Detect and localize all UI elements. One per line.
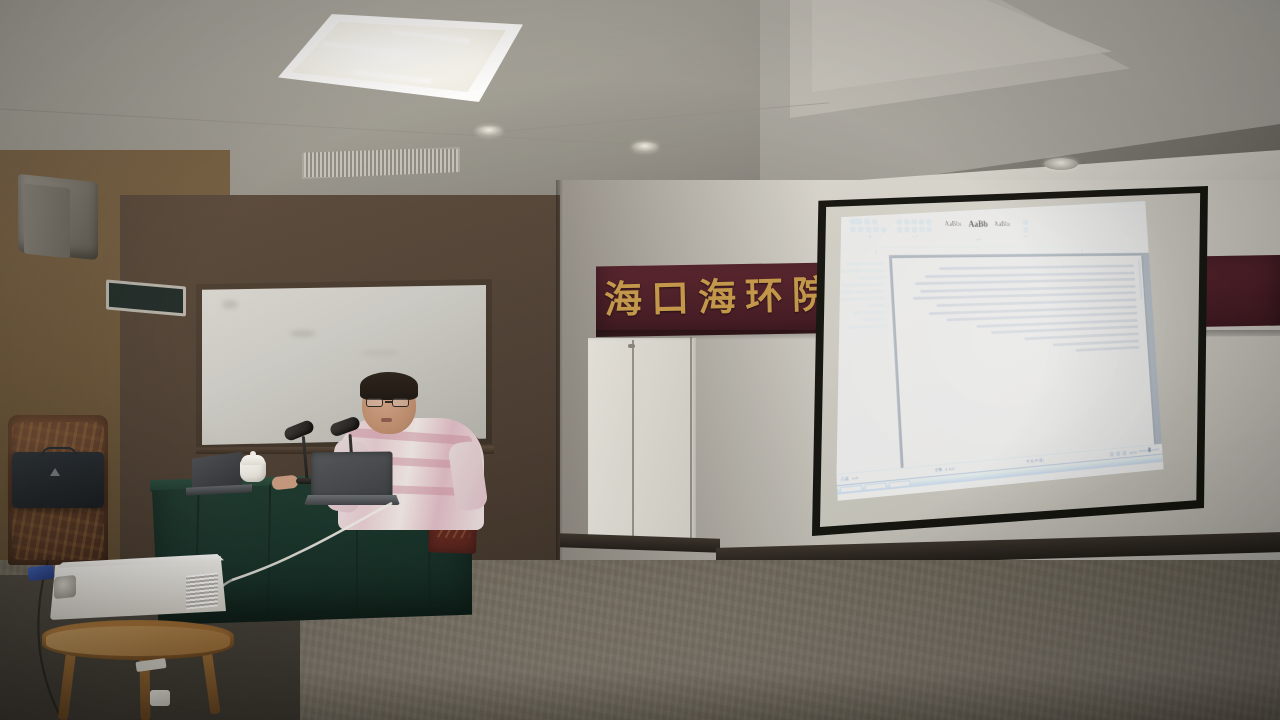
align-center-icon[interactable]	[904, 226, 910, 232]
nav-heading[interactable]	[845, 324, 888, 328]
style-name: 正文	[951, 227, 957, 231]
style-name: 标题 1	[975, 227, 983, 231]
ribbon-group-styles[interactable]: AaBbc 正文 AaBb 标题 1 AaBbc 标题 2 样式	[938, 211, 1018, 246]
glasses-icon	[366, 398, 383, 407]
nav-heading[interactable]	[856, 276, 885, 279]
text-highlight-icon[interactable]	[881, 226, 887, 232]
nav-heading[interactable]	[838, 297, 887, 301]
grow-font-icon[interactable]	[872, 218, 878, 224]
ribbon-group-label: 段落	[897, 234, 932, 238]
presenter-laptop-base[interactable]	[304, 495, 400, 505]
nav-heading[interactable]	[846, 262, 885, 265]
bag-handle[interactable]	[42, 447, 76, 457]
document-text-line	[1052, 339, 1139, 346]
find-icon[interactable]	[1023, 219, 1028, 225]
ribbon-group-label: 字体	[850, 234, 887, 238]
nav-heading[interactable]	[866, 304, 887, 307]
document-text-line	[924, 271, 1135, 278]
style-heading-1[interactable]: AaBb 标题 1	[966, 215, 990, 236]
laptop-bag[interactable]	[12, 452, 104, 508]
taskbar-item[interactable]	[840, 485, 862, 493]
zoom-slider-handle[interactable]	[1148, 448, 1150, 453]
line-spacing-icon[interactable]	[926, 226, 932, 232]
status-language: 中文(中国)	[1026, 457, 1044, 464]
style-sample: AaBbc	[994, 220, 1011, 228]
ruler-margin	[875, 248, 1082, 253]
align-left-icon[interactable]	[897, 226, 903, 232]
cup-on-floor	[150, 690, 170, 706]
strikethrough-icon[interactable]	[873, 226, 879, 232]
presenter-hair	[360, 372, 418, 400]
speaker-grille	[24, 184, 70, 259]
font-name-box[interactable]	[849, 218, 862, 224]
projector-lens	[54, 575, 76, 599]
style-sample: AaBb	[968, 220, 988, 228]
document-page[interactable]	[892, 255, 1154, 467]
nav-heading[interactable]	[861, 317, 888, 320]
web-layout-view-icon[interactable]	[1116, 451, 1120, 456]
outline-view-icon[interactable]	[1122, 450, 1126, 455]
italic-icon[interactable]	[858, 226, 864, 232]
document-text-line	[915, 278, 1136, 285]
downlight-icon	[632, 142, 658, 152]
glasses-bridge	[385, 401, 392, 403]
underline-icon[interactable]	[865, 226, 871, 232]
whiteboard-smudge	[360, 350, 400, 356]
presenter-laptop-screen[interactable]	[311, 452, 392, 499]
bullets-icon[interactable]	[896, 218, 902, 224]
nav-heading[interactable]	[853, 311, 888, 315]
decrease-indent-icon[interactable]	[919, 218, 925, 224]
justify-icon[interactable]	[919, 226, 925, 232]
word-work-area	[836, 253, 1162, 474]
nav-heading[interactable]	[841, 283, 886, 286]
navigation-pane[interactable]	[836, 255, 901, 474]
ribbon-group-paragraph[interactable]: 段落	[893, 211, 937, 246]
zoom-level[interactable]: 110%	[1129, 449, 1137, 454]
ribbon-group-editing[interactable]: 编辑	[1020, 212, 1032, 245]
replace-icon[interactable]	[1023, 226, 1028, 232]
downlight-icon	[1044, 158, 1078, 170]
document-text-line	[939, 264, 1135, 270]
door-seam	[690, 337, 692, 540]
font-size-box[interactable]	[864, 218, 870, 224]
downlight-icon	[476, 126, 502, 136]
projected-image: 文件 开始 插入 页面布局 引用 邮件 审阅 视图 剪贴板	[836, 199, 1188, 501]
presenter-mouth	[381, 418, 392, 422]
document-text-line	[1075, 346, 1140, 352]
whiteboard-smudge	[290, 330, 316, 337]
status-word-count: 字数: 4,502	[934, 466, 955, 474]
door-knob[interactable]	[628, 344, 635, 348]
align-right-icon[interactable]	[912, 226, 918, 232]
whiteboard-smudge	[222, 300, 238, 309]
increase-indent-icon[interactable]	[926, 219, 932, 225]
teacup-knob	[250, 451, 256, 457]
lecture-room-photo: 海口海环院环境 文件 开始 插入 页面布局 引用	[0, 0, 1280, 720]
stool-seat	[46, 626, 230, 656]
status-page-info: 页面: 1/8	[840, 475, 858, 483]
numbering-icon[interactable]	[904, 218, 910, 224]
zoom-slider[interactable]	[1139, 448, 1159, 452]
door-seam	[632, 340, 634, 540]
bold-icon[interactable]	[850, 226, 856, 232]
print-layout-view-icon[interactable]	[1110, 451, 1114, 456]
ribbon-group-label: 编辑	[1024, 234, 1029, 238]
document-text-line	[1024, 332, 1139, 340]
ribbon-group-label: 样式	[942, 238, 1014, 242]
styles-gallery[interactable]: AaBbc 正文 AaBb 标题 1 AaBbc 标题 2	[941, 215, 1014, 236]
taskbar-item[interactable]	[865, 482, 887, 490]
style-sample: AaBbc	[944, 220, 962, 228]
multilevel-list-icon[interactable]	[911, 218, 917, 224]
style-name: 标题 2	[999, 227, 1007, 231]
nav-heading[interactable]	[836, 269, 885, 272]
vga-connector[interactable]	[27, 565, 54, 582]
style-normal[interactable]: AaBbc 正文	[941, 215, 966, 236]
double-doors[interactable]	[588, 338, 696, 540]
style-heading-2[interactable]: AaBbc 标题 2	[991, 215, 1015, 236]
taskbar-item[interactable]	[889, 480, 910, 488]
projector-vent	[186, 572, 218, 609]
bag-logo	[50, 468, 60, 476]
glasses-icon	[392, 398, 409, 407]
nav-heading[interactable]	[836, 290, 886, 294]
word-window[interactable]: 文件 开始 插入 页面布局 引用 邮件 审阅 视图 剪贴板	[836, 199, 1164, 501]
